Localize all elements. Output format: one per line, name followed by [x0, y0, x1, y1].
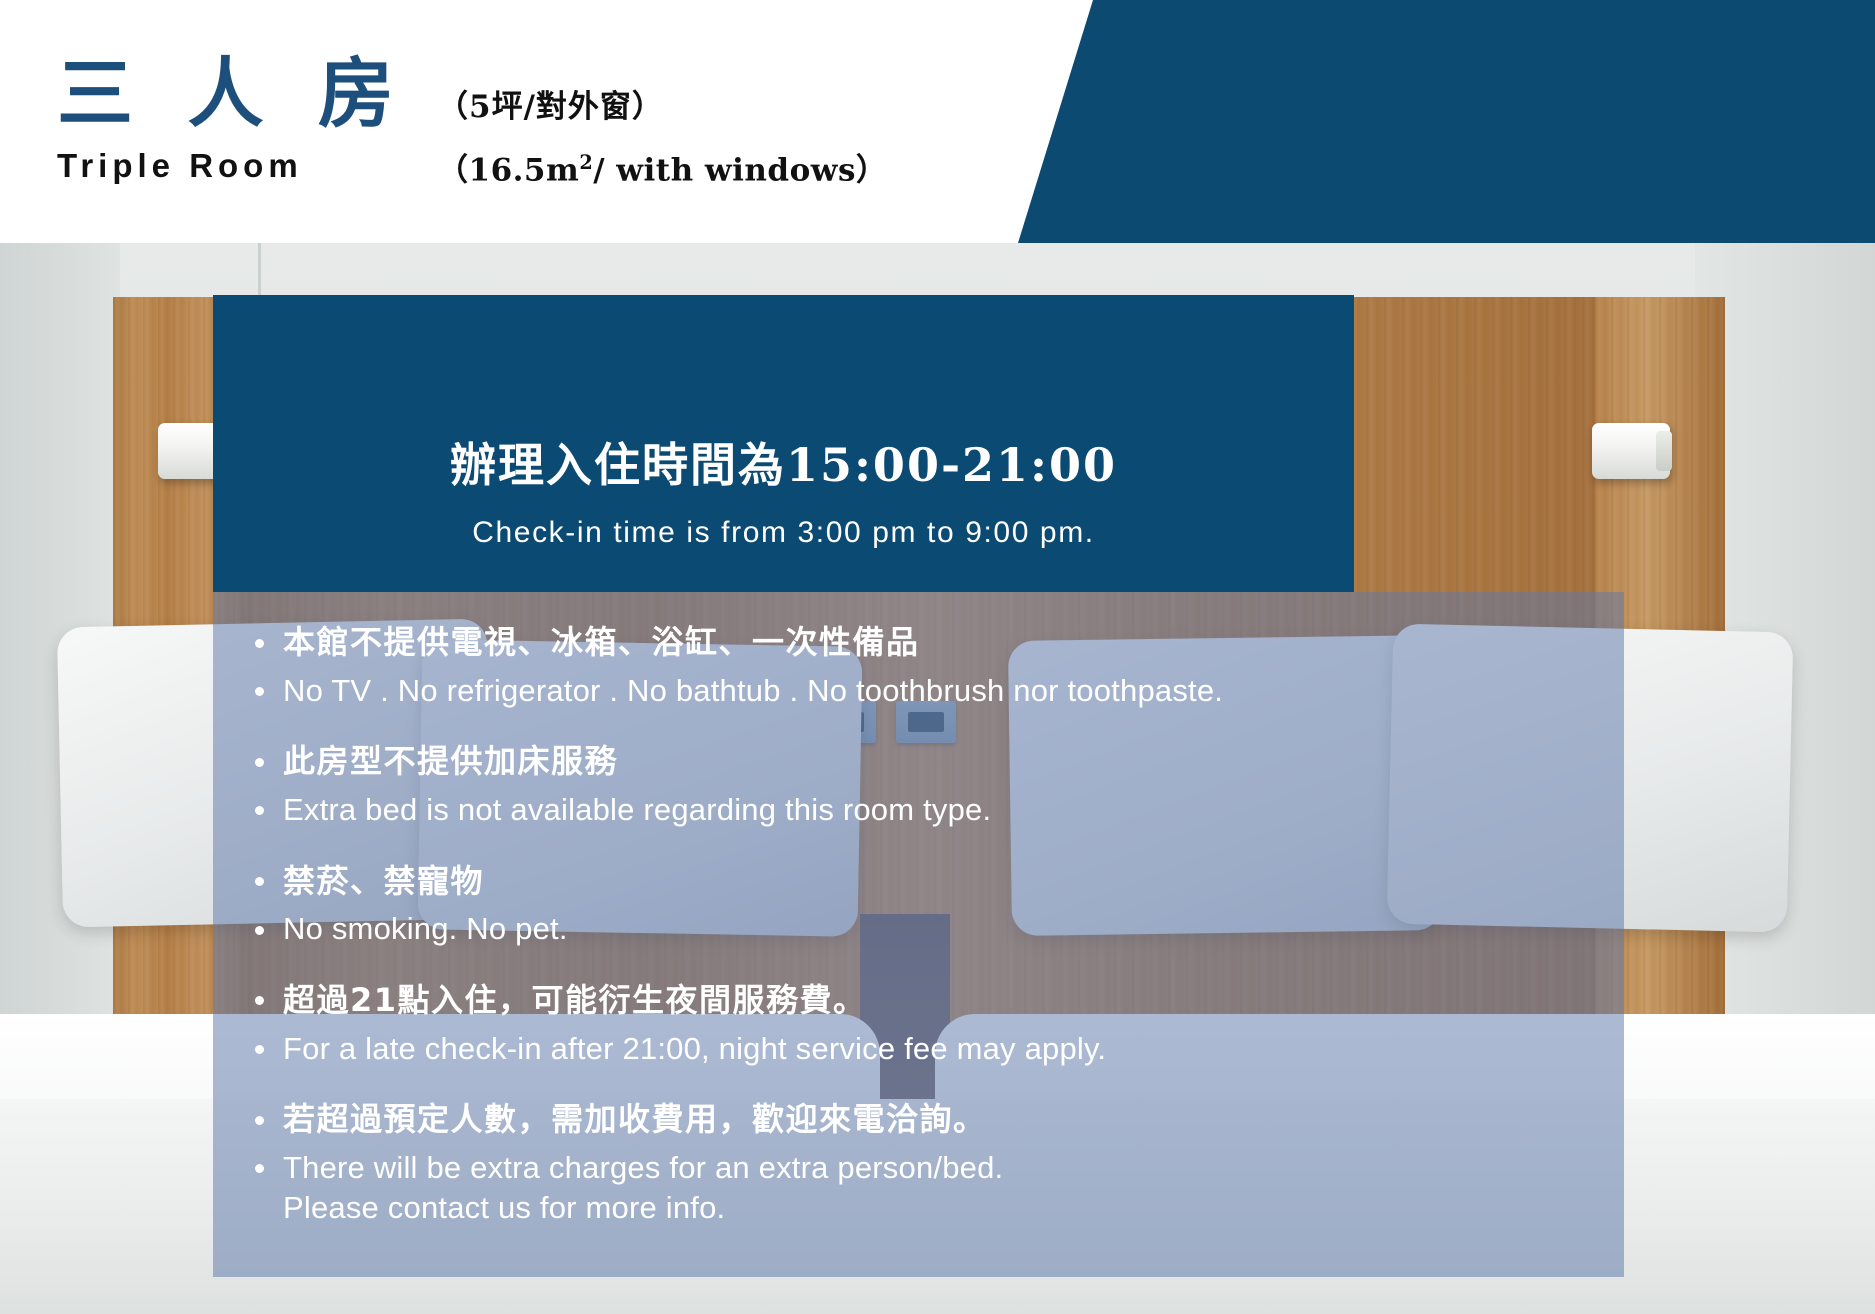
- room-notes-list: 本館不提供電視、冰箱、浴缸、一次性備品No TV . No refrigerat…: [213, 622, 1624, 1229]
- room-note-item: There will be extra charges for an extra…: [249, 1148, 1624, 1229]
- room-note-item: 禁菸、禁寵物: [249, 861, 1624, 902]
- room-note-item: 若超過預定人數，需加收費用，歡迎來電洽詢。: [249, 1099, 1624, 1140]
- title-block: 三 人 房 Triple Room: [57, 55, 457, 185]
- checkin-banner: 辦理入住時間為15:00-21:00 Check-in time is from…: [213, 295, 1354, 592]
- room-note-item: 超過21點入住，可能衍生夜間服務費。: [249, 980, 1624, 1021]
- room-note-item: Extra bed is not available regarding thi…: [249, 790, 1624, 830]
- wall-lamp-right-icon: [1592, 423, 1670, 479]
- room-note-item: 此房型不提供加床服務: [249, 741, 1624, 782]
- page-title-zh: 三 人 房: [57, 55, 457, 133]
- room-spec-en-prefix: （16.5m: [437, 152, 579, 188]
- room-notes-panel: 本館不提供電視、冰箱、浴缸、一次性備品No TV . No refrigerat…: [213, 592, 1624, 1277]
- header-bar: 三 人 房 Triple Room （5坪/對外窗） （16.5m2/ with…: [0, 0, 1875, 243]
- room-spec-zh: （5坪/對外窗）: [437, 92, 887, 123]
- room-note-item: For a late check-in after 21:00, night s…: [249, 1029, 1624, 1069]
- room-note-item: 本館不提供電視、冰箱、浴缸、一次性備品: [249, 622, 1624, 663]
- room-info-card: 三 人 房 Triple Room （5坪/對外窗） （16.5m2/ with…: [0, 0, 1875, 1314]
- room-spec-en-superscript: 2: [579, 151, 593, 174]
- room-spec-en-suffix: / with windows）: [593, 152, 887, 188]
- checkin-heading-zh: 辦理入住時間為15:00-21:00: [450, 429, 1117, 495]
- room-note-item: No smoking. No pet.: [249, 909, 1624, 949]
- room-spec-block: （5坪/對外窗） （16.5m2/ with windows）: [437, 92, 887, 186]
- room-spec-en: （16.5m2/ with windows）: [437, 153, 887, 186]
- room-note-item: No TV . No refrigerator . No bathtub . N…: [249, 671, 1624, 711]
- page-title-en: Triple Room: [57, 147, 457, 185]
- checkin-heading-en: Check-in time is from 3:00 pm to 9:00 pm…: [472, 516, 1094, 550]
